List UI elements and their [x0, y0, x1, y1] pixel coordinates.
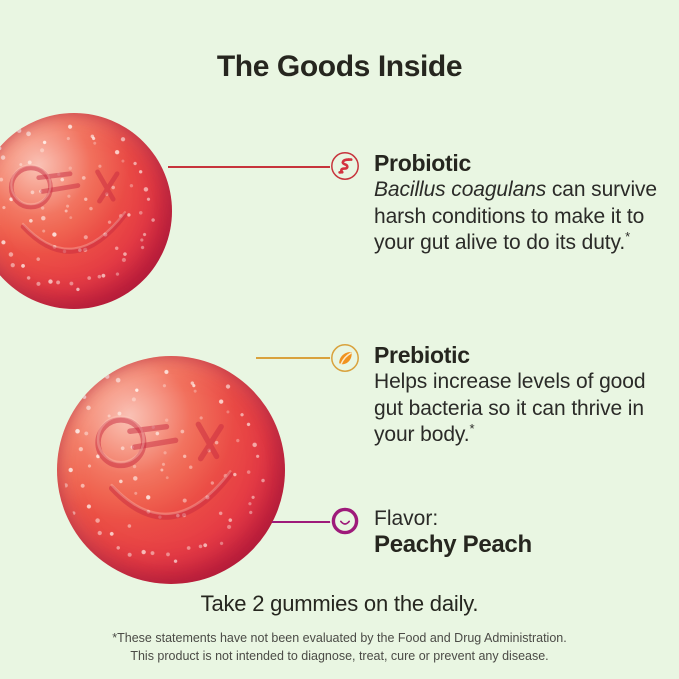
- product-infographic: The Goods Inside: [0, 0, 679, 679]
- benefit-body: Helps increase levels of good gut bacter…: [374, 369, 679, 449]
- benefit-heading: Prebiotic: [374, 343, 679, 367]
- leaf-icon: [330, 343, 360, 373]
- intestine-icon: [330, 151, 360, 181]
- connector-line-probiotic: [168, 166, 330, 168]
- smiley-circle-icon: [330, 506, 360, 536]
- benefit-heading: Probiotic: [374, 151, 679, 175]
- benefit-body-text: Helps increase levels of good gut bacter…: [374, 370, 645, 446]
- benefit-text-probiotic: Probiotic Bacillus coagulans can survive…: [374, 151, 679, 257]
- gummy-image-bottom: [57, 356, 285, 584]
- page-title: The Goods Inside: [0, 50, 679, 84]
- flavor-text: Flavor: Peachy Peach: [374, 506, 532, 560]
- directions-text: Take 2 gummies on the daily.: [0, 591, 679, 617]
- embossed-smiley-face: [57, 356, 285, 584]
- gummy-body: [0, 113, 172, 309]
- connector-line-flavor: [272, 521, 332, 523]
- gummy-body: [57, 356, 285, 584]
- disclaimer-line-1: *These statements have not been evaluate…: [0, 629, 679, 647]
- flavor-row: Flavor: Peachy Peach: [330, 506, 532, 560]
- disclaimer-line-2: This product is not intended to diagnose…: [0, 647, 679, 665]
- connector-line-prebiotic: [256, 357, 332, 359]
- benefit-body: Bacillus coagulans can survive harsh con…: [374, 177, 679, 257]
- asterisk-marker: *: [625, 229, 630, 244]
- species-name: Bacillus coagulans: [374, 178, 546, 201]
- benefit-row-prebiotic: Prebiotic Helps increase levels of good …: [330, 343, 679, 449]
- flavor-label: Flavor:: [374, 506, 532, 531]
- benefit-text-prebiotic: Prebiotic Helps increase levels of good …: [374, 343, 679, 449]
- disclaimer-text: *These statements have not been evaluate…: [0, 629, 679, 665]
- asterisk-marker: *: [470, 421, 475, 436]
- gummy-image-top: [0, 113, 172, 309]
- flavor-value: Peachy Peach: [374, 531, 532, 560]
- benefit-row-probiotic: Probiotic Bacillus coagulans can survive…: [330, 151, 679, 257]
